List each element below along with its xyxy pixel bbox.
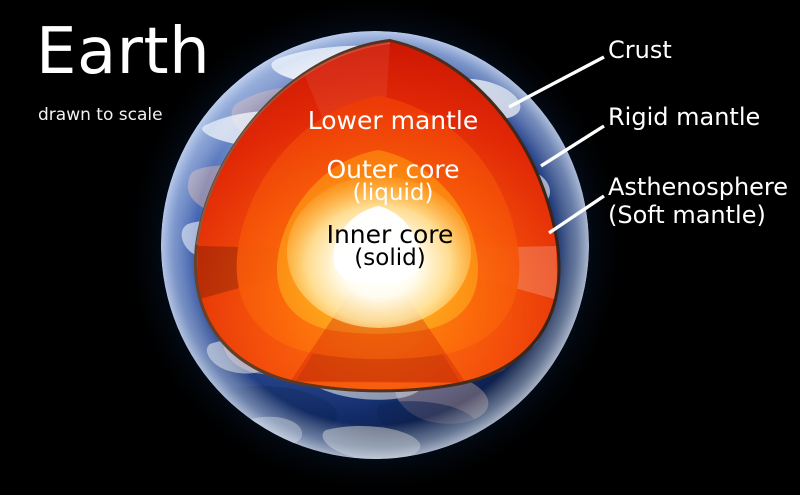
label-crust: Crust xyxy=(608,38,672,62)
label-inner-core: Inner core xyxy=(280,222,500,247)
label-asthenosphere: Asthenosphere xyxy=(608,175,788,199)
label-rigid-mantle: Rigid mantle xyxy=(608,105,760,129)
label-outer-core: Outer core xyxy=(283,157,503,182)
label-outer-core-state: (liquid) xyxy=(283,182,503,205)
diagram-canvas: Earth drawn to scale Lower mantle Outer … xyxy=(0,0,800,495)
page-subtitle: drawn to scale xyxy=(38,107,163,124)
page-title: Earth xyxy=(36,20,210,84)
label-asthenosphere-sub: (Soft mantle) xyxy=(608,203,766,227)
label-lower-mantle: Lower mantle xyxy=(283,108,503,133)
label-inner-core-state: (solid) xyxy=(280,247,500,270)
